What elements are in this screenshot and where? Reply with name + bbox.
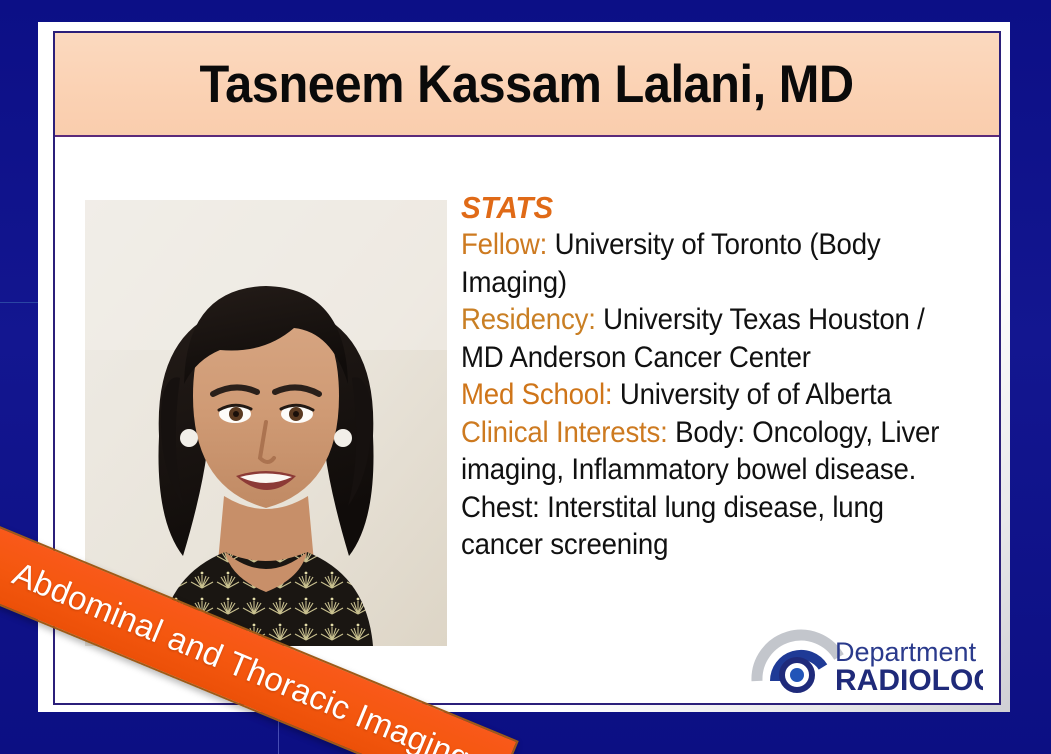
portrait-illustration [85,200,447,646]
stat-label-fellow: Fellow: [461,228,547,261]
stat-row-residency: Residency: University Texas Houston / MD… [461,301,949,376]
stats-block: STATS Fellow: University of Toronto (Bod… [461,191,991,564]
page-title: Tasneem Kassam Lalani, MD [200,54,854,115]
stat-value-med-school: University of of Alberta [620,378,892,411]
stat-row-fellow: Fellow: University of Toronto (Body Imag… [461,226,949,301]
stat-row-med-school: Med School: University of of Alberta [461,376,949,414]
stat-row-clinical-interests: Clinical Interests: Body: Oncology, Live… [461,414,949,564]
poster-canvas: Tasneem Kassam Lalani, MD [0,0,1051,754]
portrait-photo [85,200,447,646]
card-title-bar: Tasneem Kassam Lalani, MD [55,33,999,137]
concentric-arcs-icon: Department of RADIOLOGY [751,617,983,697]
profile-card: Tasneem Kassam Lalani, MD [53,31,1001,705]
stat-label-residency: Residency: [461,303,596,336]
frame-seam-horizontal [0,302,40,303]
stat-label-med-school: Med School: [461,378,612,411]
stats-heading: STATS [461,191,965,224]
logo-line1: Department of [835,637,983,667]
department-logo: Department of RADIOLOGY [751,617,983,697]
logo-line2: RADIOLOGY [835,664,983,697]
stat-label-clinical-interests: Clinical Interests: [461,416,668,449]
